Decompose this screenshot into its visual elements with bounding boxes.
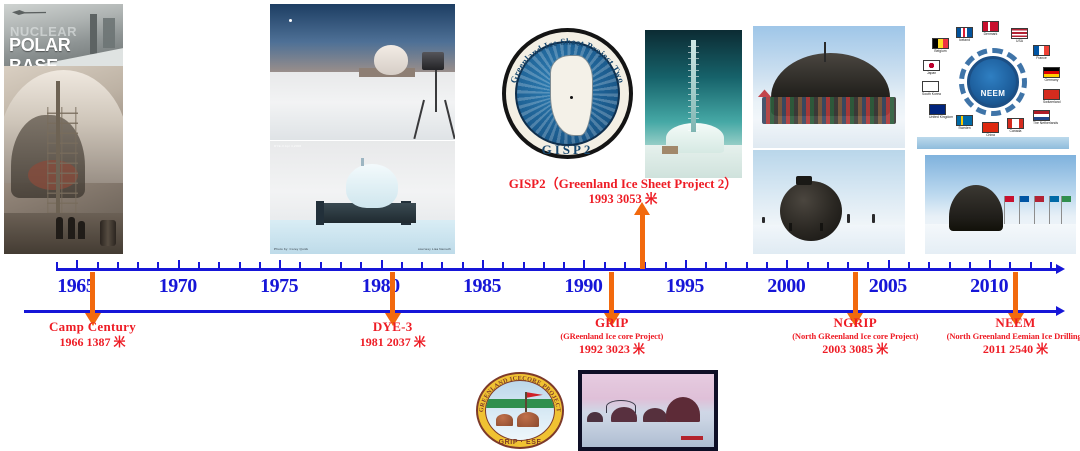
logo-ring-text: Greenland Ice Sheet Project Two xyxy=(502,28,633,159)
radome xyxy=(374,45,408,75)
axis-tick-major xyxy=(685,260,687,271)
photo-ngrip-team xyxy=(753,26,905,148)
flag-iceland: Iceland xyxy=(956,27,973,43)
axis-tick-minor xyxy=(725,262,727,268)
event-subtitle: (GReenland Ice core Project) xyxy=(560,331,663,342)
flag-canada: Canada xyxy=(1007,118,1024,134)
photo-marker xyxy=(681,436,703,440)
axis-tick-minor xyxy=(624,262,626,268)
logo-footer: GRIP · ESF xyxy=(470,439,570,446)
flag-south-korea: South Korea xyxy=(922,81,939,97)
drill-mast xyxy=(56,81,60,231)
flag-label: Belgium xyxy=(932,50,949,54)
photo-neem-camp xyxy=(925,155,1076,254)
snow-field xyxy=(270,72,455,140)
event-label-dye-3: DYE-31981 2037 米 xyxy=(360,320,426,350)
event-label-neem: NEEM(North Greenland Eemian Ice Drilling… xyxy=(947,316,1080,357)
event-year-depth: 2003 3085 米 xyxy=(792,342,918,357)
event-name: Camp Century xyxy=(49,320,136,335)
team-group xyxy=(762,97,896,124)
camp-dome xyxy=(666,397,700,422)
axis-tick-minor xyxy=(320,262,322,268)
flag-icon xyxy=(956,115,973,126)
flag-icon xyxy=(956,27,973,38)
camp-dome xyxy=(587,412,603,422)
flag-icon xyxy=(1011,28,1028,39)
axis-tick-minor xyxy=(847,262,849,268)
photo-ngrip-dome xyxy=(753,150,905,254)
antenna-icon xyxy=(361,158,364,166)
neem-logo: NEEM xyxy=(967,56,1019,108)
flag-united-kingdom: United Kingdom xyxy=(929,104,946,120)
axis-tick-minor xyxy=(543,262,545,268)
event-year-depth: 1992 3023 米 xyxy=(560,342,663,357)
neem-logo-label: NEEM xyxy=(981,89,1006,98)
flag-switzerland: Switzerland xyxy=(1043,89,1060,105)
barrel xyxy=(100,220,116,246)
axis-tick-minor xyxy=(299,262,301,268)
axis-tick-minor xyxy=(56,262,58,268)
flag-sweden: Sweden xyxy=(956,115,973,131)
flag-icon xyxy=(1005,196,1014,202)
flag-icon xyxy=(1035,196,1044,202)
axis-year-label: 2000 xyxy=(767,275,805,298)
axis-tick-minor xyxy=(827,262,829,268)
timeline-infographic: NUCLEAR POLAR BASE xyxy=(0,0,1080,451)
logo-grip: GREENLAND ICECORE PROJECT GRIP · ESF xyxy=(470,370,570,451)
axis-tick-minor xyxy=(340,262,342,268)
axis-tick-major xyxy=(989,260,991,271)
axis-tick-minor xyxy=(218,262,220,268)
flag-icon xyxy=(1043,67,1060,78)
svg-text:Greenland Ice Sheet Project Tw: Greenland Ice Sheet Project Two xyxy=(508,36,626,84)
axis-tick-minor xyxy=(137,262,139,268)
axis-tick-minor xyxy=(1050,262,1052,268)
axis-tick-minor xyxy=(1030,262,1032,268)
event-marker-arrow-ngrip xyxy=(853,272,858,314)
flag-denmark: Denmark xyxy=(982,21,999,37)
axis-tick-major xyxy=(178,260,180,271)
decorative-bar xyxy=(917,137,1070,149)
logo-ring-text: GREENLAND ICECORE PROJECT xyxy=(476,372,564,449)
dome-hatch xyxy=(796,176,812,185)
flag-label: Iceland xyxy=(956,39,973,43)
axis-tick-minor xyxy=(421,262,423,268)
flag-icon xyxy=(1020,196,1029,202)
axis-tick-minor xyxy=(928,262,930,268)
event-marker-arrow-grip xyxy=(609,272,614,314)
axis-year-label: 1990 xyxy=(564,275,602,298)
axis-year-label: 1970 xyxy=(159,275,197,298)
axis-tick-minor xyxy=(97,262,99,268)
axis-year-label: 2010 xyxy=(970,275,1008,298)
neem-dome xyxy=(949,185,1003,231)
flag-label: United Kingdom xyxy=(929,116,946,120)
flag-france: France xyxy=(1033,45,1050,61)
flag-label: USA xyxy=(1011,40,1028,44)
photo-overlay-label: DYE-3 Apr 4,2006 xyxy=(274,144,301,148)
flag-netherlands: The Netherlands xyxy=(1033,110,1050,126)
flag-label: Germany xyxy=(1043,79,1060,83)
camera-icon xyxy=(422,52,444,70)
event-year-depth: 1981 2037 米 xyxy=(360,335,426,350)
axis-tick-major xyxy=(76,260,78,271)
axis-tick-minor xyxy=(969,262,971,268)
axis-tick-minor xyxy=(462,262,464,268)
flag-icon xyxy=(932,38,949,49)
axis-line-bottom xyxy=(24,310,1056,313)
logo-ring-text-value: Greenland Ice Sheet Project Two xyxy=(508,36,626,84)
axis-year-label: 1995 xyxy=(666,275,704,298)
logo-abbreviation: GISP2 xyxy=(495,142,640,158)
event-subtitle: (North GReenland Ice core Project) xyxy=(792,331,918,342)
drill-tower xyxy=(691,40,696,132)
event-marker-arrow-camp-century xyxy=(90,272,95,314)
flag-belgium: Belgium xyxy=(932,38,949,54)
axis-line-top xyxy=(56,268,1056,271)
flag-label: South Korea xyxy=(922,93,939,97)
axis-year-label: 1975 xyxy=(260,275,298,298)
axis-tick-minor xyxy=(604,262,606,268)
photo-credit-right: courtesy Lisa Nemeth xyxy=(418,247,451,251)
axis-tick-minor xyxy=(949,262,951,268)
flag-icon xyxy=(1050,196,1059,202)
flag-icon xyxy=(1043,89,1060,100)
event-marker-arrow-dye-3 xyxy=(390,272,395,314)
photo-gisp2-drill-dome xyxy=(645,30,742,178)
event-label-camp-century: Camp Century1966 1387 米 xyxy=(49,320,136,350)
svg-text:GREENLAND ICECORE PROJECT: GREENLAND ICECORE PROJECT xyxy=(478,375,562,413)
sun-icon xyxy=(289,19,292,22)
axis-tick-minor xyxy=(807,262,809,268)
photo-credit-left: Photo by: Corey Quick xyxy=(274,247,308,251)
flag-china: China xyxy=(982,122,999,138)
axis-tick-major xyxy=(786,260,788,271)
photo-dye3-distant xyxy=(270,4,455,140)
axis-tick-minor xyxy=(746,262,748,268)
axis-tick-minor xyxy=(665,262,667,268)
flag-icon xyxy=(1033,45,1050,56)
event-marker-arrow-gisp2 xyxy=(640,215,645,269)
axis-tick-minor xyxy=(867,262,869,268)
axis-tick-minor xyxy=(766,262,768,268)
flag-label: Japan xyxy=(923,72,940,76)
event-label-ngrip: NGRIP(North GReenland Ice core Project)2… xyxy=(792,316,918,357)
axis-tick-minor xyxy=(1009,262,1011,268)
snow-field xyxy=(582,421,714,447)
worker-figure xyxy=(78,221,85,239)
axis-tick-minor xyxy=(117,262,119,268)
axis-tick-minor xyxy=(259,262,261,268)
axis-tick-minor xyxy=(441,262,443,268)
flag-germany: Germany xyxy=(1043,67,1060,83)
axis-tick-major xyxy=(888,260,890,271)
flag-icon xyxy=(923,60,940,71)
event-marker-arrow-neem xyxy=(1013,272,1018,314)
axis-year-label: 2005 xyxy=(869,275,907,298)
graphic-neem-partners: NEEM Iceland Denmark USA France Germany … xyxy=(910,18,1076,151)
photo-grip-camp xyxy=(578,370,718,451)
antenna-icon xyxy=(824,42,826,62)
worker-figure xyxy=(68,217,75,239)
person-figure xyxy=(762,217,765,223)
worker-figure xyxy=(56,217,63,239)
event-name: NEEM xyxy=(947,316,1080,331)
flag-japan: Japan xyxy=(923,60,940,76)
radome xyxy=(346,164,398,208)
event-name: NGRIP xyxy=(792,316,918,331)
event-name: GISP2（Greenland Ice Sheet Project 2） xyxy=(509,176,737,192)
flag-label: Denmark xyxy=(982,33,999,37)
axis-tick-minor xyxy=(563,262,565,268)
axis-tick-minor xyxy=(360,262,362,268)
timeline-axis: 1965197019751980198519901995200020052010 xyxy=(0,258,1080,318)
axis-tick-minor xyxy=(523,262,525,268)
event-label-grip: GRIP(GReenland Ice core Project)1992 302… xyxy=(560,316,663,357)
axis-tick-major xyxy=(583,260,585,271)
flag-icon xyxy=(1007,118,1024,129)
photo-inner xyxy=(582,374,714,447)
flag-icon xyxy=(929,104,946,115)
flag-icon xyxy=(1062,196,1071,202)
flag-icon xyxy=(1033,110,1050,121)
flag-label: Sweden xyxy=(956,127,973,131)
person-figure xyxy=(847,214,850,223)
equipment-crate xyxy=(662,146,678,154)
flag-label: Canada xyxy=(1007,130,1024,134)
axis-tick-minor xyxy=(401,262,403,268)
event-year-depth: 1966 1387 米 xyxy=(49,335,136,350)
axis-tick-major xyxy=(279,260,281,271)
flag-label: The Netherlands xyxy=(1033,122,1050,126)
dome-support xyxy=(820,223,823,231)
axis-tick-minor xyxy=(502,262,504,268)
camp-dome xyxy=(643,408,667,422)
dome-support xyxy=(789,223,792,231)
flag-label: France xyxy=(1033,57,1050,61)
logo-ring-text-value: GREENLAND ICECORE PROJECT xyxy=(478,375,562,413)
camp-century-ice-tunnel xyxy=(4,66,123,254)
event-year-depth: 1993 3053 米 xyxy=(509,192,737,208)
camp-century-aerial: NUCLEAR POLAR BASE xyxy=(4,4,123,66)
logo-gisp2: Greenland Ice Sheet Project Two GISP2 xyxy=(495,22,640,170)
axis-tick-minor xyxy=(908,262,910,268)
scaffold xyxy=(47,107,78,224)
event-name: GRIP xyxy=(560,316,663,331)
axis-tick-major xyxy=(381,260,383,271)
photo-dye3-closeup: DYE-3 Apr 4,2006 Photo by: Corey Quick c… xyxy=(270,141,455,254)
person-figure xyxy=(872,214,875,223)
axis-tick-minor xyxy=(198,262,200,268)
event-name: DYE-3 xyxy=(360,320,426,335)
axis-tick-major xyxy=(482,260,484,271)
axis-year-label: 1985 xyxy=(463,275,501,298)
flag-icon xyxy=(982,122,999,133)
event-subtitle: (North Greenland Eemian Ice Drilling) xyxy=(947,331,1080,342)
axis-tick-minor xyxy=(157,262,159,268)
photo-camp-century: NUCLEAR POLAR BASE xyxy=(4,4,123,254)
event-label-gisp2: GISP2（Greenland Ice Sheet Project 2） 199… xyxy=(509,176,737,207)
flag-usa: USA xyxy=(1011,28,1028,44)
flag-icon xyxy=(982,21,999,32)
event-year-depth: 2011 2540 米 xyxy=(947,342,1080,357)
flag-icon xyxy=(922,81,939,92)
flag-label: Switzerland xyxy=(1043,101,1060,105)
axis-tick-minor xyxy=(705,262,707,268)
arch-structure xyxy=(606,400,636,413)
axis-tick-minor xyxy=(239,262,241,268)
